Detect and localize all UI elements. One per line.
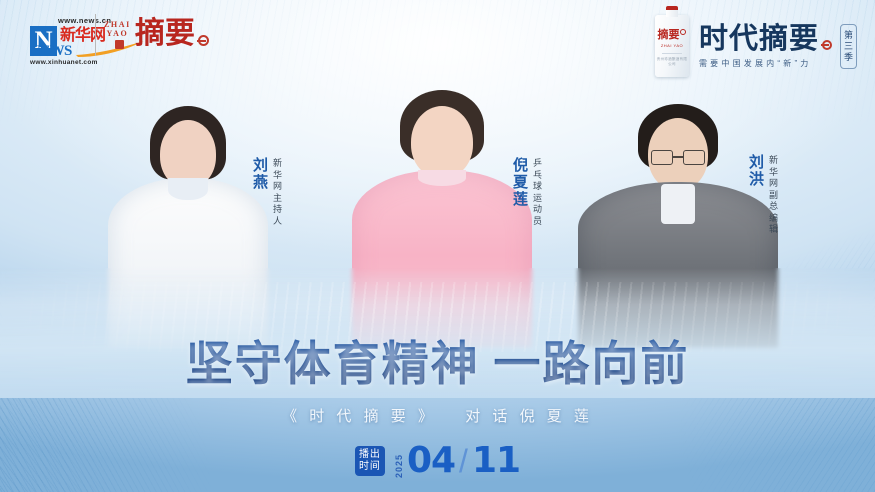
bottle-ring-icon <box>680 29 686 35</box>
season-badge: 第三季 <box>840 24 857 69</box>
person-photo-host <box>108 98 268 348</box>
guest-photos <box>0 78 875 348</box>
program-ring-icon <box>822 40 832 50</box>
glasses-icon <box>651 150 705 165</box>
broadcast-badge-line2: 时间 <box>359 461 381 473</box>
face <box>411 106 473 178</box>
name-tag-athlete: 倪夏莲 乒乓球运动员 <box>512 158 543 227</box>
torso <box>352 170 532 348</box>
broadcast-badge-line1: 播出 <box>359 449 381 461</box>
collar <box>168 178 208 200</box>
program-title-row: 时代摘要 <box>699 23 832 55</box>
name-tag-editor: 刘洪 新华网副总编辑 <box>748 155 779 236</box>
zhaiyao-ring-icon <box>198 35 209 46</box>
person-name: 刘洪 <box>748 155 765 189</box>
person-name: 倪夏莲 <box>512 158 529 209</box>
shirt <box>661 184 695 224</box>
program-title: 时代摘要 <box>699 23 819 55</box>
person-role: 新华网副总编辑 <box>768 155 779 236</box>
subheadline-program: 《 时 代 摘 要 》 <box>282 408 437 425</box>
person-role: 乒乓球运动员 <box>532 158 543 227</box>
broadcast-day: 11 <box>472 442 520 480</box>
broadcast-date-strip: 播出 时间 2025 04 / 11 <box>0 440 875 482</box>
bottle-label-divider <box>662 53 682 54</box>
liquor-bottle-icon: 摘要 ZHAI YAO 贵州珍酒酿酒有限公司 <box>655 15 689 77</box>
broadcast-month: 04 <box>407 442 455 480</box>
broadcast-time-badge: 播出 时间 <box>355 446 385 476</box>
person-role: 新华网主持人 <box>272 158 283 227</box>
program-subtitle: 需要中国发展内“新”力 <box>699 58 832 69</box>
bottle-label: 摘要 ZHAI YAO 贵州珍酒酿酒有限公司 <box>655 29 689 67</box>
bottle-label-company: 贵州珍酒酿酒有限公司 <box>655 57 689 67</box>
name-tag-host: 刘燕 新华网主持人 <box>252 158 283 227</box>
person-name: 刘燕 <box>252 158 269 192</box>
logo-divider <box>95 14 96 56</box>
zhaiyao-title: 摘要 <box>135 18 195 50</box>
zhaiyao-seal-icon <box>115 40 124 49</box>
zhaiyao-logo[interactable]: ZHAI YAO 摘要 <box>104 18 209 50</box>
zhaiyao-pinyin-line2: YAO <box>104 29 131 38</box>
program-text-block: 时代摘要 需要中国发展内“新”力 <box>699 23 832 69</box>
person-photo-athlete <box>352 86 532 348</box>
date-separator: / <box>459 442 468 480</box>
torso <box>108 178 268 348</box>
collar <box>418 170 466 186</box>
zhaiyao-pinyin-line1: ZHAI <box>104 20 131 29</box>
zhaiyao-pinyin: ZHAI YAO <box>104 20 135 49</box>
subheadline: 《 时 代 摘 要 》 对 话 倪 夏 莲 <box>0 406 875 428</box>
poster-stage: www.news.cn N 新华网 NEWS www.xinhuanet.com… <box>0 0 875 492</box>
bottle-cap <box>666 6 678 10</box>
subheadline-guest: 对 话 倪 夏 莲 <box>465 408 593 425</box>
bottle-label-subtitle: ZHAI YAO <box>655 43 689 48</box>
xinhua-news-word: NEWS <box>30 43 72 60</box>
xinhua-url-bottom: www.xinhuanet.com <box>30 59 98 66</box>
program-logo[interactable]: 摘要 ZHAI YAO 贵州珍酒酿酒有限公司 时代摘要 需要中国发展内“新”力 … <box>655 10 857 82</box>
bottle-label-title: 摘要 <box>655 29 689 41</box>
headline: 坚守体育精神 一路向前 <box>0 336 875 394</box>
broadcast-year: 2025 <box>394 444 404 478</box>
